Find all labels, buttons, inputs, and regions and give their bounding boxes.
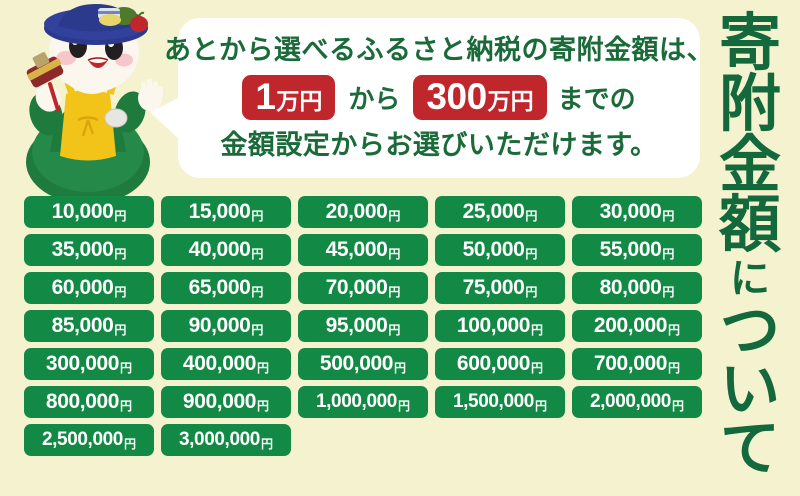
amount-value: 2,000,000	[590, 391, 671, 413]
amount-value: 600,000	[457, 352, 530, 376]
amount-tag[interactable]: 85,000円	[24, 310, 154, 342]
currency-suffix: 円	[662, 245, 674, 262]
amount-tag[interactable]: 500,000円	[298, 348, 428, 380]
amount-tag[interactable]: 20,000円	[298, 196, 428, 228]
vertical-section-title: 寄附金額について	[706, 14, 794, 484]
amount-tag[interactable]: 55,000円	[572, 234, 702, 266]
currency-suffix: 円	[398, 397, 410, 414]
amount-value: 200,000	[594, 314, 667, 338]
amount-value: 900,000	[183, 390, 256, 414]
currency-suffix: 円	[525, 207, 537, 224]
min-amount-badge: 1万円	[242, 75, 335, 120]
amount-tag[interactable]: 35,000円	[24, 234, 154, 266]
amount-value: 30,000	[600, 200, 662, 224]
amount-tag[interactable]: 30,000円	[572, 196, 702, 228]
amount-tag[interactable]: 800,000円	[24, 386, 154, 418]
amount-value: 95,000	[326, 314, 388, 338]
amount-value: 500,000	[320, 352, 393, 376]
currency-suffix: 円	[251, 283, 263, 300]
amount-value: 1,500,000	[453, 391, 534, 413]
max-amount-badge: 300万円	[413, 75, 546, 120]
amount-tag[interactable]: 200,000円	[572, 310, 702, 342]
currency-suffix: 円	[525, 245, 537, 262]
amount-value: 35,000	[52, 238, 114, 262]
range-conjunction: から	[335, 79, 413, 116]
amount-tag[interactable]: 1,000,000円	[298, 386, 428, 418]
currency-suffix: 円	[114, 283, 126, 300]
vertical-title-char: い	[720, 361, 780, 420]
amount-value: 800,000	[46, 390, 119, 414]
currency-suffix: 円	[535, 397, 547, 414]
currency-suffix: 円	[257, 397, 269, 414]
currency-suffix: 円	[251, 321, 263, 338]
currency-suffix: 円	[668, 359, 680, 376]
currency-suffix: 円	[114, 245, 126, 262]
amount-value: 1,000,000	[316, 391, 397, 413]
vertical-title-char: て	[720, 420, 780, 479]
amount-tag[interactable]: 75,000円	[435, 272, 565, 304]
currency-suffix: 円	[394, 359, 406, 376]
amount-tag[interactable]: 60,000円	[24, 272, 154, 304]
currency-suffix: 円	[114, 207, 126, 224]
amount-tag[interactable]: 80,000円	[572, 272, 702, 304]
amount-tag[interactable]: 45,000円	[298, 234, 428, 266]
currency-suffix: 円	[388, 283, 400, 300]
amount-tag[interactable]: 65,000円	[161, 272, 291, 304]
currency-suffix: 円	[261, 435, 273, 452]
amount-value: 300,000	[46, 352, 119, 376]
amount-tag[interactable]: 900,000円	[161, 386, 291, 418]
amount-value: 80,000	[600, 276, 662, 300]
amount-value: 3,000,000	[179, 429, 260, 451]
currency-suffix: 円	[531, 321, 543, 338]
amount-value: 60,000	[52, 276, 114, 300]
currency-suffix: 円	[251, 207, 263, 224]
vertical-title-char: に	[730, 259, 770, 298]
amount-tag[interactable]: 2,500,000円	[24, 424, 154, 456]
amount-tag[interactable]: 100,000円	[435, 310, 565, 342]
amount-tag[interactable]: 15,000円	[161, 196, 291, 228]
speech-bubble: あとから選べるふるさと納税の寄附金額は、 1万円 から 300万円 までの 金額…	[178, 18, 700, 178]
page-root: あとから選べるふるさと納税の寄附金額は、 1万円 から 300万円 までの 金額…	[0, 0, 800, 496]
amount-value: 85,000	[52, 314, 114, 338]
bubble-line-3: 金額設定からお選びいただけます。	[220, 132, 657, 159]
currency-suffix: 円	[668, 321, 680, 338]
amount-tag[interactable]: 2,000,000円	[572, 386, 702, 418]
currency-suffix: 円	[531, 359, 543, 376]
min-amount-unit: 万円	[276, 90, 322, 113]
amount-value: 400,000	[183, 352, 256, 376]
amount-value: 100,000	[457, 314, 530, 338]
currency-suffix: 円	[388, 245, 400, 262]
currency-suffix: 円	[124, 435, 136, 452]
amount-tag[interactable]: 10,000円	[24, 196, 154, 228]
amount-value: 50,000	[463, 238, 525, 262]
amount-value: 70,000	[326, 276, 388, 300]
amount-value: 10,000	[52, 200, 114, 224]
amount-tag[interactable]: 600,000円	[435, 348, 565, 380]
currency-suffix: 円	[120, 397, 132, 414]
currency-suffix: 円	[114, 321, 126, 338]
amount-tag[interactable]: 90,000円	[161, 310, 291, 342]
currency-suffix: 円	[672, 397, 684, 414]
currency-suffix: 円	[662, 207, 674, 224]
currency-suffix: 円	[525, 283, 537, 300]
amount-tag[interactable]: 95,000円	[298, 310, 428, 342]
bubble-line-2: 1万円 から 300万円 までの	[242, 75, 635, 120]
currency-suffix: 円	[257, 359, 269, 376]
vertical-title-char: 金	[719, 136, 781, 197]
amount-value: 2,500,000	[42, 429, 123, 451]
amount-tag[interactable]: 1,500,000円	[435, 386, 565, 418]
amount-value: 45,000	[326, 238, 388, 262]
amount-tag[interactable]: 700,000円	[572, 348, 702, 380]
amount-value: 20,000	[326, 200, 388, 224]
currency-suffix: 円	[120, 359, 132, 376]
bubble-line-1: あとから選べるふるさと納税の寄附金額は、	[164, 37, 714, 64]
amount-value: 15,000	[189, 200, 251, 224]
amount-value: 40,000	[189, 238, 251, 262]
vertical-title-char: つ	[720, 302, 780, 361]
amount-tag[interactable]: 25,000円	[435, 196, 565, 228]
range-trailing-text: までの	[547, 79, 636, 116]
amount-grid: 10,000円15,000円20,000円25,000円30,000円35,00…	[24, 196, 690, 456]
amount-tag[interactable]: 300,000円	[24, 348, 154, 380]
currency-suffix: 円	[251, 245, 263, 262]
amount-value: 90,000	[189, 314, 251, 338]
amount-tag[interactable]: 70,000円	[298, 272, 428, 304]
currency-suffix: 円	[388, 321, 400, 338]
currency-suffix: 円	[662, 283, 674, 300]
amount-value: 55,000	[600, 238, 662, 262]
max-amount-unit: 万円	[488, 90, 534, 113]
amount-tag[interactable]: 40,000円	[161, 234, 291, 266]
amount-tag[interactable]: 3,000,000円	[161, 424, 291, 456]
vertical-title-char: 額	[719, 196, 781, 257]
vertical-title-char: 附	[719, 75, 781, 136]
amount-value: 25,000	[463, 200, 525, 224]
vertical-title-char: 寄	[719, 14, 781, 75]
amount-tag[interactable]: 400,000円	[161, 348, 291, 380]
amount-value: 75,000	[463, 276, 525, 300]
min-amount-number: 1	[255, 78, 275, 115]
amount-value: 65,000	[189, 276, 251, 300]
amount-value: 700,000	[594, 352, 667, 376]
max-amount-number: 300	[426, 78, 486, 115]
currency-suffix: 円	[388, 207, 400, 224]
amount-tag[interactable]: 50,000円	[435, 234, 565, 266]
